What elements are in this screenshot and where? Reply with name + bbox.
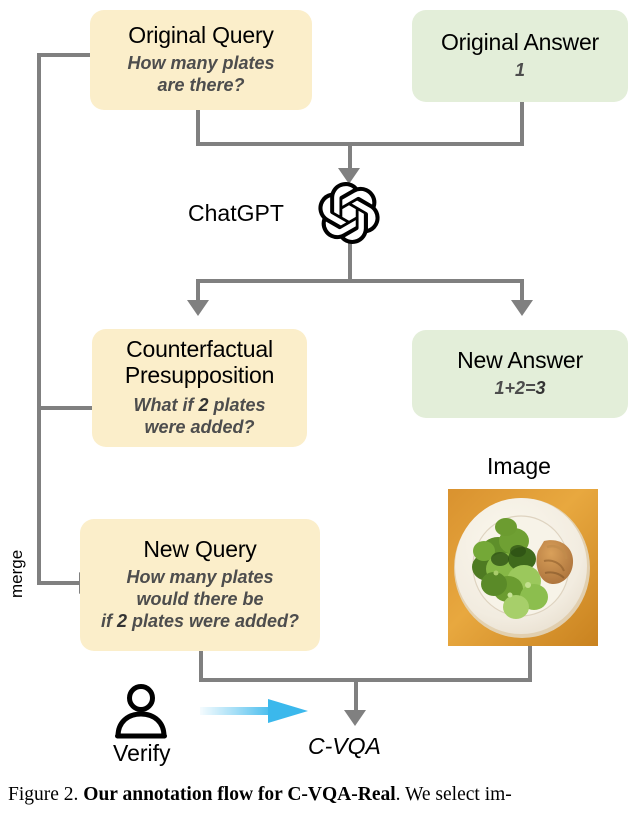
node-original-query-title: Original Query (128, 23, 273, 49)
chatgpt-label: ChatGPT (188, 202, 284, 225)
image-label: Image (487, 455, 551, 478)
node-counterfactual-sub-pre: What if (133, 395, 198, 415)
connector-split-bar (196, 279, 524, 283)
node-new-answer-expression: 1+2= (494, 378, 535, 398)
connector-left-mid-horizontal (37, 406, 95, 410)
connector-image-stem (528, 646, 532, 682)
node-new-query-sub-line1: How many plates (126, 567, 273, 587)
node-new-answer-title: New Answer (457, 348, 583, 374)
connector-left-top-horizontal (37, 53, 95, 57)
node-original-query-sub-line2: are there? (157, 75, 244, 95)
arrow-into-new-answer (511, 300, 533, 316)
node-new-answer-value: 1+2=3 (494, 378, 545, 400)
arrow-into-counterfactual (187, 300, 209, 316)
node-new-query[interactable]: New Query How many plates would there be… (80, 519, 320, 651)
connector-left-vertical (37, 53, 41, 585)
node-new-answer-result: 3 (536, 378, 546, 398)
node-counterfactual-sub-line2: were added? (144, 417, 254, 437)
connector-original-answer-stem (520, 102, 524, 146)
caption-suffix: . We select im- (396, 784, 512, 805)
node-new-query-sub-line3-post: plates were added? (127, 611, 299, 631)
node-new-query-sub-line2: would there be (136, 589, 263, 609)
node-counterfactual-sub-post: plates (208, 395, 265, 415)
node-original-answer[interactable]: Original Answer 1 (412, 10, 628, 102)
connector-merge-bar-bottom (199, 678, 532, 682)
node-original-query-sub-line1: How many plates (127, 53, 274, 73)
person-icon (112, 683, 170, 739)
thumbnail-image (448, 489, 598, 646)
node-original-query[interactable]: Original Query How many plates are there… (90, 10, 312, 110)
caption-bold: Our annotation flow for C-VQA-Real (83, 784, 395, 805)
connector-join-bar-top (196, 142, 524, 146)
figure-caption: Figure 2. Our annotation flow for C-VQA-… (8, 784, 636, 806)
node-original-answer-value: 1 (515, 60, 525, 82)
node-new-query-sub-line3-bold: 2 (117, 611, 127, 631)
node-counterfactual-presupposition[interactable]: Counterfactual Presupposition What if 2 … (92, 329, 307, 447)
connector-original-query-stem (196, 110, 200, 146)
merge-label: merge (8, 550, 25, 598)
verify-label: Verify (113, 742, 171, 765)
node-counterfactual-sub-bold: 2 (198, 395, 208, 415)
arrow-into-output (344, 710, 366, 726)
node-new-query-title: New Query (143, 537, 256, 563)
node-original-answer-title: Original Answer (441, 30, 599, 56)
connector-left-bottom-horizontal (37, 581, 79, 585)
node-original-query-subtext: How many plates are there? (127, 53, 274, 97)
node-new-query-subtext: How many plates would there be if 2 plat… (101, 567, 299, 633)
openai-logo-icon (318, 182, 380, 244)
blue-gradient-arrow-icon (200, 697, 310, 725)
node-counterfactual-title-line1: Counterfactual (126, 336, 273, 362)
node-new-answer[interactable]: New Answer 1+2=3 (412, 330, 628, 418)
output-label: C-VQA (308, 735, 381, 758)
caption-prefix: Figure 2. (8, 784, 78, 805)
node-counterfactual-title-line2: Presupposition (125, 362, 274, 388)
figure-canvas: Original Query How many plates are there… (0, 0, 640, 814)
node-new-query-sub-line3-pre: if (101, 611, 117, 631)
node-counterfactual-title: Counterfactual Presupposition (125, 337, 274, 389)
node-counterfactual-subtext: What if 2 plates were added? (133, 395, 265, 439)
connector-chatgpt-stem (348, 240, 352, 283)
